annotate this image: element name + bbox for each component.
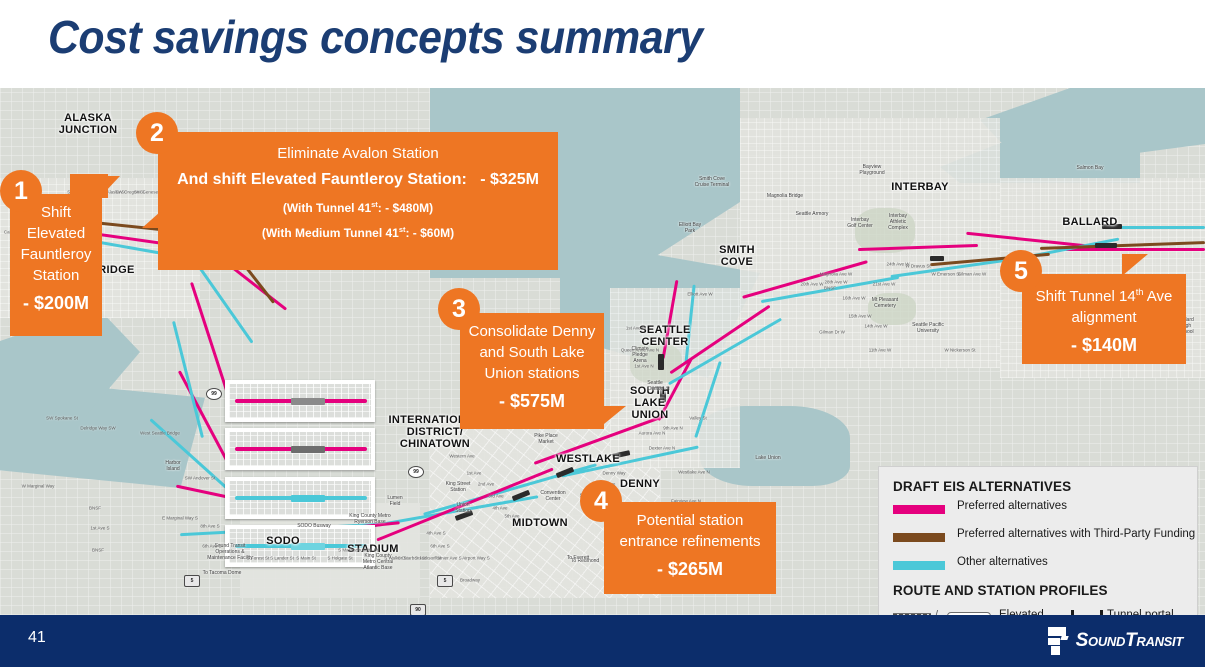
inset-station-3	[291, 495, 325, 502]
legend-swatch-other	[893, 561, 945, 570]
street-label-46: Aurora Ave N	[639, 431, 666, 436]
callout-2-note-1-sup: st	[371, 200, 378, 209]
street-label-61: 21st Ave W	[873, 282, 896, 287]
street-label-53: 1st Ave N	[634, 364, 653, 369]
street-label-37: 4th Ave	[493, 506, 508, 511]
highway-shield-2: 5	[437, 575, 453, 587]
street-label-16: 1st Ave S	[91, 526, 110, 531]
poi-label-1: Elliott Bay Park	[679, 222, 701, 234]
street-label-51: 1st Ave W	[626, 326, 646, 331]
poi-label-26: To Everett	[567, 555, 590, 561]
street-label-62: 24th Ave W	[887, 262, 910, 267]
street-label-13: SW Andover St	[185, 476, 216, 481]
street-label-11: Delridge Way SW	[80, 426, 115, 431]
neighborhood-label-1: SMITH COVE	[719, 244, 755, 268]
legend-label-other: Other alternatives	[957, 556, 1048, 568]
callout-3-box[interactable]: Consolidate Denny and South Lake Union s…	[460, 313, 604, 429]
map-legend[interactable]: DRAFT EIS ALTERNATIVES Preferred alterna…	[878, 466, 1198, 615]
poi-label-12: King Street Station	[446, 481, 471, 493]
callout-2-note-1-post: : - $480M)	[378, 201, 433, 215]
street-label-50: Valley St	[689, 416, 706, 421]
street-label-58: 11th Ave W	[869, 348, 892, 353]
street-label-36: 3rd Ave	[488, 494, 503, 499]
street-label-60: 20th Ave W	[801, 282, 824, 287]
street-label-20: 6th Ave S	[202, 544, 221, 549]
poi-label-6: Mt Pleasant Cemetery	[872, 297, 898, 309]
poi-label-0: Smith Cove Cruise Terminal	[695, 176, 730, 188]
poi-label-14: Lumen Field	[387, 495, 402, 507]
street-label-43: Westlake Ave N	[678, 470, 710, 475]
street-label-56: 15th Ave W	[849, 314, 872, 319]
callout-4-line-2: entrance refinements	[604, 531, 776, 552]
poi-label-3: Interbay Golf Center	[847, 217, 873, 229]
highway-shield-3: 90	[410, 604, 426, 615]
poi-label-4: Interbay Athletic Complex	[888, 213, 908, 231]
street-label-67: W Emerson St	[931, 272, 960, 277]
sound-transit-mark-icon	[1044, 627, 1070, 655]
highway-shield-1: 5	[184, 575, 200, 587]
callout-1-line-2: Elevated	[10, 223, 102, 244]
inset-card-2[interactable]	[225, 428, 375, 470]
neighborhood-label-4: SEATTLE CENTER	[639, 324, 690, 348]
street-label-35: 2nd Ave	[478, 482, 494, 487]
callout-2-note-1: (With Tunnel 41st: - $480M)	[158, 194, 558, 219]
street-label-48: 9th Ave N	[663, 426, 682, 431]
street-label-22: S Lander St	[270, 556, 294, 561]
callout-2-line-1: Eliminate Avalon Station	[158, 142, 558, 166]
poi-label-11: Convention Center	[540, 490, 565, 502]
street-label-52: Queen Anne Ave N	[621, 348, 659, 353]
callout-5-pointer-tip	[1122, 254, 1148, 276]
street-label-54: Elliott Ave W	[687, 292, 712, 297]
street-label-68: Gilman Ave W	[958, 272, 986, 277]
legend-swatch-preferred	[893, 505, 945, 514]
street-label-33: Broadway	[460, 578, 480, 583]
neighborhood-label-6: WESTLAKE	[556, 453, 620, 465]
station-marker-ballard	[1095, 243, 1117, 248]
poi-label-2: Seattle Armory	[796, 211, 829, 217]
street-label-12: West Seattle Bridge	[140, 431, 180, 436]
street-label-10: SW Spokane St	[46, 416, 78, 421]
street-label-14: W Marginal Way	[22, 484, 55, 489]
poi-label-21: Salmon Bay	[1077, 165, 1104, 171]
callout-5-badge[interactable]: 5	[1000, 250, 1042, 292]
neighborhood-label-2: INTERBAY	[891, 181, 949, 193]
rail-line-other-ballard	[1112, 226, 1205, 229]
callout-3-line-2: and South Lake	[460, 342, 604, 363]
street-label-32: Airport Way S	[462, 556, 490, 561]
callout-3-line-3: Union stations	[460, 363, 604, 384]
street-label-28: S Walker St	[384, 556, 408, 561]
callout-4-amount: - $265M	[604, 556, 776, 582]
highway-shield-0: 99	[408, 466, 424, 478]
street-label-15: BNSF	[89, 506, 101, 511]
street-label-47: Dexter Ave N	[649, 446, 675, 451]
callout-4-line-1: Potential station	[604, 510, 776, 531]
street-label-66: BNSF	[824, 286, 836, 291]
callout-3-badge[interactable]: 3	[438, 288, 480, 330]
street-label-25: S Massachusetts St	[338, 548, 378, 553]
callout-1-line-4: Station	[10, 265, 102, 286]
street-label-49: Mercer St	[650, 386, 670, 391]
callout-2-headline: And shift Elevated Fauntleroy Station: -…	[158, 166, 558, 194]
page-title: Cost savings concepts summary	[48, 10, 703, 64]
callout-2-note-2-pre: (With Medium Tunnel 41	[262, 226, 399, 240]
map-canvas[interactable]: ALASKA JUNCTIONSMITH COVEINTERBAYBALLARD…	[0, 88, 1205, 615]
poi-label-19: Harbor Island	[165, 460, 180, 472]
slide-footer: 41 SoundTransit	[0, 615, 1205, 667]
legend-label-elevated: Elevated	[999, 609, 1044, 615]
callout-2-headline-label: And shift Elevated Fauntleroy Station:	[177, 171, 467, 188]
street-label-31: 6th Ave S	[430, 544, 449, 549]
legend-label-preferred: Preferred alternatives	[957, 500, 1067, 512]
legend-swatch-third-party	[893, 533, 945, 542]
callout-2-headline-amount: - $325M	[480, 171, 539, 188]
poi-label-13: Union Station	[455, 502, 471, 514]
street-label-23: S Main St	[296, 556, 316, 561]
callout-4-badge[interactable]: 4	[580, 480, 622, 522]
street-label-75: W Nickerson St	[944, 348, 975, 353]
street-label-57: 14th Ave W	[865, 324, 888, 329]
callout-2-badge[interactable]: 2	[136, 112, 178, 154]
callout-5-line-1-post: Ave	[1143, 288, 1172, 305]
poi-label-7: Seattle Pacific University	[912, 322, 944, 334]
poi-label-20: Lake Union	[755, 455, 780, 461]
street-label-39: Western Ave	[449, 454, 474, 459]
page-number: 41	[28, 629, 46, 647]
street-label-45: Denny Way	[602, 471, 625, 476]
inset-station-1	[291, 398, 325, 405]
street-label-65: Magnolia Ave W	[820, 272, 852, 277]
callout-4-box[interactable]: Potential station entrance refinements -…	[604, 502, 776, 594]
callout-3-amount: - $575M	[460, 388, 604, 414]
callout-5-line-2: alignment	[1022, 307, 1186, 328]
inset-card-1[interactable]	[225, 380, 375, 422]
callout-5-line-1: Shift Tunnel 14th Ave	[1022, 282, 1186, 307]
callout-5-line-1-pre: Shift Tunnel 14	[1036, 288, 1136, 305]
callout-1-badge[interactable]: 1	[0, 170, 42, 212]
legend-alternatives-heading: DRAFT EIS ALTERNATIVES	[893, 479, 1071, 494]
neighborhood-label-8: MIDTOWN	[512, 517, 568, 529]
street-label-24: S Holgate St	[327, 556, 352, 561]
neighborhood-label-10: SODO	[266, 535, 300, 547]
callout-2-note-2: (With Medium Tunnel 41st: - $60M)	[158, 219, 558, 244]
callout-1-amount: - $200M	[10, 290, 102, 316]
callout-2-box[interactable]: Eliminate Avalon Station And shift Eleva…	[158, 132, 558, 270]
callout-3-pointer-tip	[604, 406, 626, 424]
sound-transit-logo: SoundTransit	[1044, 625, 1183, 657]
neighborhood-label-3: BALLARD	[1062, 216, 1117, 228]
street-label-19: 8th Ave S	[200, 524, 219, 529]
inset-station-2	[291, 446, 325, 453]
poi-label-18: SODO Busway	[297, 523, 331, 529]
street-label-38: 5th Ave	[505, 514, 520, 519]
callout-1-line-3: Fauntleroy	[10, 244, 102, 265]
street-label-21: S Forest St	[247, 556, 270, 561]
legend-label-tunnel-portal: Tunnel portal	[1107, 609, 1174, 615]
callout-5-amount: - $140M	[1022, 332, 1186, 358]
street-label-17: BNSF	[92, 548, 104, 553]
station-marker-interbay	[930, 256, 944, 261]
station-marker-seattle-center	[658, 354, 664, 370]
poi-label-10: Pike Place Market	[534, 433, 558, 445]
callout-1-pointer-tip	[104, 176, 120, 193]
elevated-station-icon	[947, 612, 991, 615]
callout-3-line-1: Consolidate Denny	[460, 321, 604, 342]
street-label-63: 28th Ave W	[825, 280, 848, 285]
profile-slash-1: /	[935, 609, 938, 615]
street-label-30: 4th Ave S	[426, 531, 445, 536]
rail-line-preferred-ballard	[1065, 248, 1205, 251]
callout-5-box[interactable]: Shift Tunnel 14th Ave alignment - $140M	[1022, 274, 1186, 364]
poi-label-5: Bayview Playground	[859, 164, 884, 176]
street-label-59: 16th Ave W	[843, 296, 866, 301]
highway-shield-4: 99	[206, 388, 222, 400]
elevated-line-icon	[893, 613, 931, 615]
callout-2-note-2-post: : - $60M)	[405, 226, 454, 240]
poi-label-24: To Tacoma Dome	[203, 570, 242, 576]
sound-transit-wordmark: SoundTransit	[1076, 630, 1183, 652]
callout-1-box[interactable]: Shift Elevated Fauntleroy Station - $200…	[10, 194, 102, 336]
poi-label-23: Magnolia Bridge	[767, 193, 803, 199]
tunnel-portal-icon	[1071, 610, 1103, 615]
street-label-34: 1st Ave	[467, 471, 482, 476]
neighborhood-label-7: DENNY	[620, 478, 660, 490]
neighborhood-label-0: ALASKA JUNCTION	[59, 112, 118, 136]
callout-2-note-1-pre: (With Tunnel 41	[283, 201, 371, 215]
street-label-18: E Marginal Way S	[162, 516, 198, 521]
legend-label-third-party: Preferred alternatives with Third-Party …	[957, 528, 1195, 540]
legend-profiles-heading: ROUTE AND STATION PROFILES	[893, 583, 1108, 598]
street-label-29: Rainier Ave S	[434, 556, 461, 561]
poi-label-15: King County Metro Ryerson Base	[349, 513, 390, 525]
street-label-64: Gilman Dr W	[819, 330, 845, 335]
